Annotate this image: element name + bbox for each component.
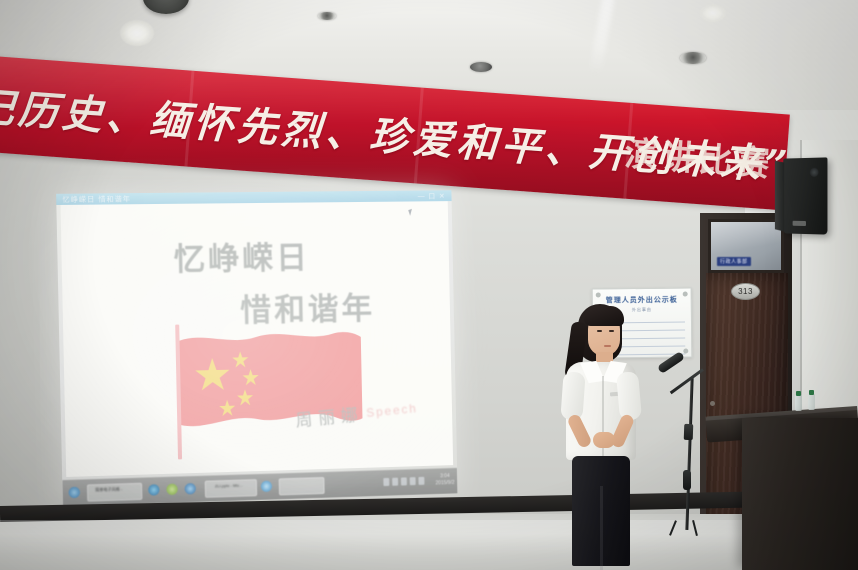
flag-svg	[177, 327, 365, 455]
system-tray[interactable]	[383, 477, 424, 486]
light-streak	[589, 0, 615, 74]
water-bottle[interactable]	[795, 395, 802, 411]
slide-canvas: 忆峥嵘日 惜和谐年 周丽娜 Speech	[60, 201, 453, 477]
tray-icon[interactable]	[392, 478, 398, 486]
downlight-icon	[680, 52, 706, 64]
door-transom-window: 行政人事部	[708, 219, 784, 273]
projected-window-title: 忆峥嵘日 惜和谐年	[62, 194, 131, 205]
tray-icon[interactable]	[401, 477, 407, 485]
speaker-side-panel	[775, 161, 784, 232]
clasped-hands	[593, 432, 615, 448]
department-sign: 行政人事部	[717, 257, 751, 266]
ceiling-light-glow	[120, 20, 154, 46]
whiteboard-corner-screw	[683, 292, 688, 297]
taskbar-button-label: 简单电子风格 -	[95, 486, 122, 493]
whiteboard-corner-screw	[596, 292, 601, 297]
taskbar-button[interactable]	[279, 477, 325, 495]
ceiling-light-glow-secondary	[700, 4, 726, 22]
presentation-room-photo: 记历史、缅怀先烈、珍爱和平、开创未来” 演讲比赛 忆峥嵘日 惜和谐年 — 口 ✕…	[0, 0, 858, 570]
microphone-clamp[interactable]	[684, 424, 694, 440]
water-bottle[interactable]	[808, 394, 815, 410]
tray-icon[interactable]	[383, 478, 389, 486]
mouth	[604, 345, 611, 347]
app-icon[interactable]	[166, 484, 177, 495]
chinese-flag-graphic	[169, 319, 371, 464]
qq-icon[interactable]	[261, 481, 272, 492]
browser-icon[interactable]	[148, 484, 159, 495]
slide-signature-subtext: Speech	[366, 401, 419, 420]
floor-reflection	[0, 520, 858, 570]
projection-screen: 忆峥嵘日 惜和谐年 — 口 ✕ 忆峥嵘日 惜和谐年	[56, 190, 457, 506]
leg-separation	[600, 486, 603, 570]
clock-date: 2015/9/2	[436, 480, 455, 488]
slide-title-line-1: 忆峥嵘日	[173, 232, 310, 279]
sleeve-right	[616, 371, 642, 421]
start-orb-icon[interactable]	[69, 487, 81, 499]
bangs	[584, 306, 624, 326]
sleeve-left	[560, 371, 585, 420]
downlight-icon	[470, 62, 492, 72]
window-controls[interactable]: — 口 ✕	[418, 191, 446, 201]
door-handle[interactable]	[710, 401, 715, 406]
internet-explorer-icon[interactable]	[185, 483, 196, 494]
microphone-height-knob[interactable]	[683, 470, 691, 490]
podium	[742, 418, 858, 570]
downlight-icon	[318, 12, 336, 20]
speaker-badge	[793, 221, 806, 226]
tray-icon[interactable]	[418, 477, 424, 485]
speaker-driver-icon	[810, 168, 819, 177]
taskbar-clock[interactable]: 3:04 2015/9/2	[435, 473, 454, 487]
taskbar-button-label: ZLI.pptx - Mic...	[215, 483, 243, 489]
eye-left	[597, 330, 602, 332]
wall-speaker	[783, 157, 827, 234]
room-number-plate: 313	[731, 283, 760, 300]
whiteboard-corner-screw	[683, 349, 688, 354]
eye-right	[609, 330, 614, 332]
presenter	[560, 300, 680, 570]
tray-icon[interactable]	[410, 477, 416, 485]
